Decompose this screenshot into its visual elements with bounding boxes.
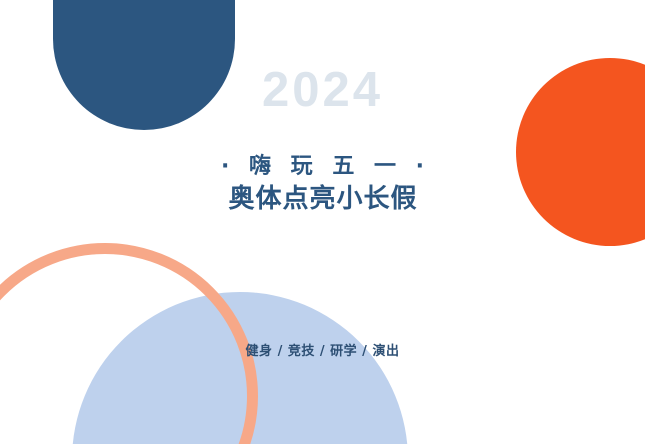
poster-canvas: 2024 · 嗨 玩 五 一 · 奥体点亮小长假 健身 / 竞技 / 研学 / … xyxy=(0,0,645,444)
headline-block: · 嗨 玩 五 一 · 奥体点亮小长假 xyxy=(0,152,645,217)
tagline-label: 健身 / 竞技 / 研学 / 演出 xyxy=(0,340,645,359)
year-label: 2024 xyxy=(0,66,645,115)
headline-line-1: · 嗨 玩 五 一 · xyxy=(0,152,645,182)
headline-line-2: 奥体点亮小长假 xyxy=(0,182,645,217)
text-layer: 2024 · 嗨 玩 五 一 · 奥体点亮小长假 健身 / 竞技 / 研学 / … xyxy=(0,0,645,444)
